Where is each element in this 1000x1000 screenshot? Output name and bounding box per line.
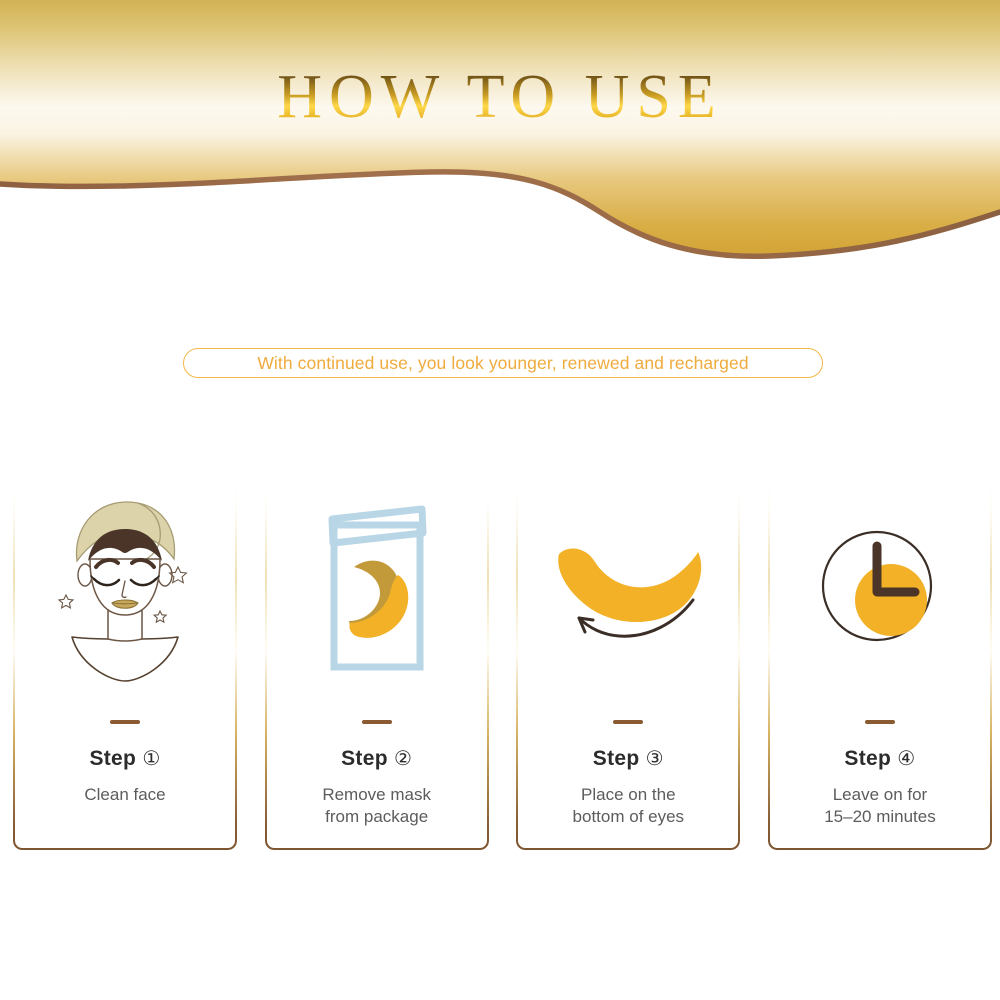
mask-package-icon [302,489,452,689]
step-4-label-text: Step [844,747,891,770]
header-banner: HOW TO USE [0,0,1000,270]
step-3-desc-line2: bottom of eyes [573,807,685,826]
card-divider [362,720,392,724]
step-4-number: ④ [897,748,915,770]
step-2-illustration [265,481,489,696]
step-4-illustration [768,481,992,696]
step-2-number: ② [394,748,412,770]
card-divider [110,720,140,724]
step-2-desc-line1: Remove mask [322,785,431,804]
step-2-desc-line2: from package [325,807,428,826]
header-wave-shape [0,0,1000,270]
step-3-label-text: Step [593,747,640,770]
step-4-label: Step ④ [768,746,992,771]
woman-face-icon [50,489,200,689]
step-card-1[interactable]: Step ① Clean face [13,481,237,850]
sparkle-star-icon [154,611,166,622]
step-1-label: Step ① [13,746,237,771]
step-3-illustration [516,481,740,696]
sparkle-star-icon [59,595,73,608]
eye-patch-arrow-icon [543,514,713,664]
card-divider [613,720,643,724]
step-2-label: Step ② [265,746,489,771]
step-1-number: ① [142,748,160,770]
step-1-desc-line1: Clean face [84,785,165,804]
step-4-desc-line2: 15–20 minutes [824,807,936,826]
step-4-desc-line1: Leave on for [833,785,928,804]
step-4-description: Leave on for 15–20 minutes [768,784,992,829]
step-3-description: Place on the bottom of eyes [516,784,740,829]
step-3-desc-line1: Place on the [581,785,676,804]
steps-row: Step ① Clean face Step ② [13,481,992,850]
step-2-description: Remove mask from package [265,784,489,829]
sparkle-star-icon [170,567,187,583]
step-2-label-text: Step [341,747,388,770]
step-1-label-text: Step [89,747,136,770]
clock-icon [815,524,945,654]
page-title: HOW TO USE [0,62,1000,133]
step-3-number: ③ [646,748,664,770]
subtitle-text: With continued use, you look younger, re… [257,353,748,374]
step-card-2[interactable]: Step ② Remove mask from package [265,481,489,850]
step-1-description: Clean face [13,784,237,806]
step-card-3[interactable]: Step ③ Place on the bottom of eyes [516,481,740,850]
card-divider [865,720,895,724]
subtitle-pill: With continued use, you look younger, re… [183,348,823,378]
step-3-label: Step ③ [516,746,740,771]
step-1-illustration [13,481,237,696]
step-card-4[interactable]: Step ④ Leave on for 15–20 minutes [768,481,992,850]
